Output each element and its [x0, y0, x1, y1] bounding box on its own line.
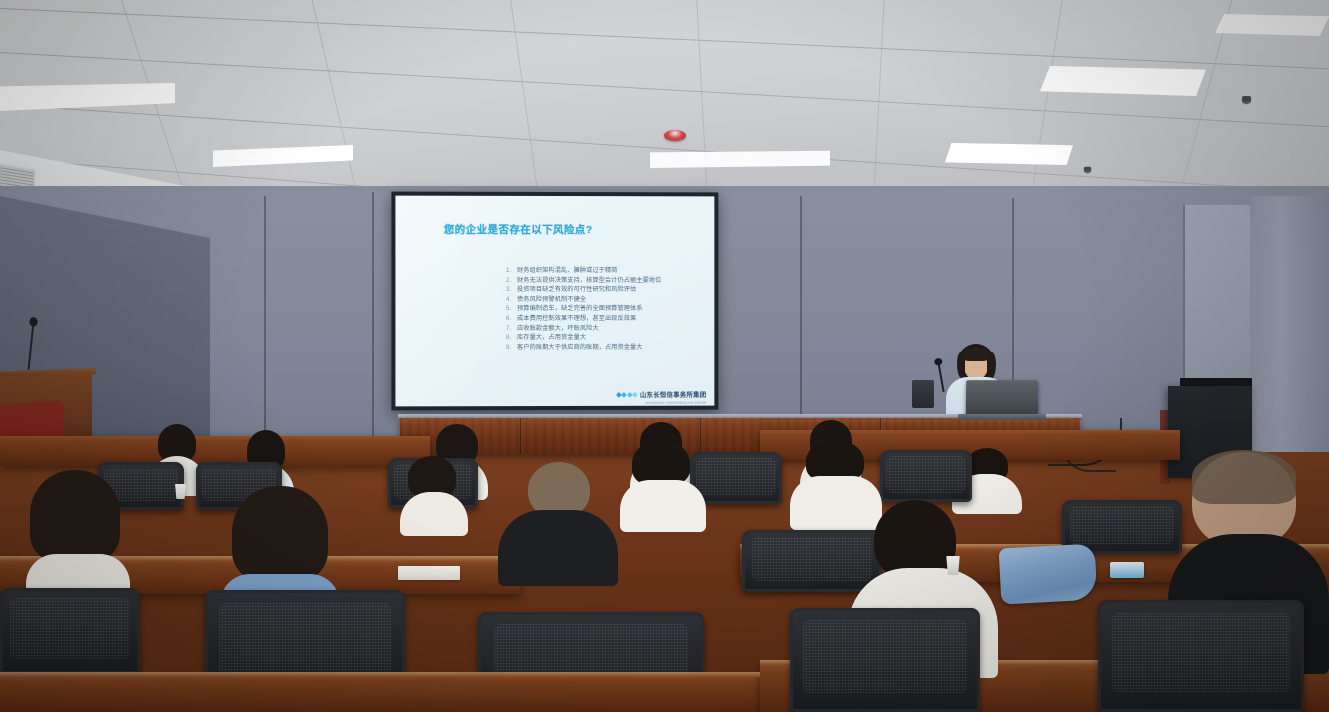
logo-chinese-name: 山东长恒信事务所集团 [640, 390, 707, 399]
presenter-hair-right [987, 352, 996, 379]
list-item: 4.债务风险预警机制不健全 [506, 295, 661, 305]
bullet-number: 2. [506, 276, 517, 286]
attendee-woman-glasses [400, 456, 468, 518]
attendee-woman-long-hair [20, 470, 130, 570]
audience-desk-row-3 [0, 676, 760, 712]
bullet-number: 1. [506, 266, 517, 276]
ceiling-light-panel [945, 143, 1073, 165]
logo-english-name: SHANDONG CHANGHENGXIN GROUP [645, 401, 706, 405]
right-wall-pillar [1250, 196, 1329, 486]
presenter-laptop-base [958, 414, 1046, 420]
bullet-text: 财务无法提供决策支持，核算型会计仍占据主要地位 [517, 277, 661, 284]
bullet-number: 3. [506, 285, 517, 295]
list-item: 7.应收账款金额大，坏账风险大 [506, 324, 661, 334]
ceiling-light-panel [213, 145, 353, 167]
ceiling-light-panel [1040, 66, 1206, 96]
bullet-text: 应收账款金额大，坏账风险大 [517, 325, 599, 332]
bullet-number: 9. [506, 343, 517, 353]
bullet-text: 财务组织架构混乱、臃肿或过于精简 [517, 267, 618, 274]
company-logo: 山东长恒信事务所集团 [616, 390, 706, 399]
bullet-number: 4. [506, 295, 517, 305]
ceiling-light-panel [1215, 14, 1329, 36]
ceiling-light-panel [650, 148, 830, 168]
slide-bullet-list: 1.财务组织架构混乱、臃肿或过于精简 2.财务无法提供决策支持，核算型会计仍占据… [506, 266, 661, 352]
bullet-text: 成本费用控制效果不理想，甚至出现反效果 [517, 315, 636, 322]
bullet-text: 客户的账期大于供应商的账期，占用资金量大 [517, 344, 643, 351]
bullet-text: 投资项目缺乏有效的可行性研究和风险评估 [517, 286, 636, 293]
desk-equipment-box [912, 380, 934, 408]
bullet-number: 8. [506, 333, 517, 343]
list-item: 6.成本费用控制效果不理想，甚至出现反效果 [506, 314, 661, 324]
door-frame [1183, 205, 1255, 385]
diamond-dots-icon [616, 392, 636, 396]
bullet-number: 7. [506, 324, 517, 334]
bullet-number: 5. [506, 304, 517, 314]
draped-blue-shirt [999, 544, 1098, 605]
attendee-man-black-polo [498, 462, 618, 572]
bullet-text: 预算编制造车，缺乏完善的全面预算管理体系 [517, 305, 643, 312]
notebook [398, 566, 460, 580]
projection-screen-frame: 您的企业是否存在以下风险点? 1.财务组织架构混乱、臃肿或过于精简 2.财务无法… [391, 192, 718, 411]
list-item: 1.财务组织架构混乱、臃肿或过于精简 [506, 266, 661, 276]
slide-title: 您的企业是否存在以下风险点? [444, 222, 593, 237]
water-bottle [318, 520, 332, 550]
projection-screen: 您的企业是否存在以下风险点? 1.财务组织架构混乱、臃肿或过于精简 2.财务无法… [395, 196, 714, 407]
bullet-number: 6. [506, 314, 517, 324]
bullet-text: 债务风险预警机制不健全 [517, 296, 586, 303]
list-item: 8.库存量大，占用资金量大 [506, 333, 661, 343]
sprinkler-head-icon [1242, 96, 1251, 103]
sprinkler-head-icon [1084, 167, 1091, 173]
office-chair [790, 608, 980, 712]
presenter-hair-left [957, 352, 965, 378]
ceiling-light-panel [0, 83, 175, 111]
smoke-alarm-icon [664, 130, 686, 141]
list-item: 3.投资项目缺乏有效的可行性研究和风险评估 [506, 285, 661, 295]
desk-lip [0, 672, 760, 677]
list-item: 9.客户的账期大于供应商的账期，占用资金量大 [506, 343, 661, 353]
conference-room-photo: 您的企业是否存在以下风险点? 1.财务组织架构混乱、臃肿或过于精简 2.财务无法… [0, 0, 1329, 712]
office-chair [0, 588, 140, 674]
office-chair [880, 450, 972, 502]
list-item: 2.财务无法提供决策支持，核算型会计仍占据主要地位 [506, 276, 661, 286]
presenter-laptop [966, 380, 1038, 418]
office-chair [1098, 600, 1304, 712]
tissue-box [1110, 562, 1144, 578]
attendee-woman-white-tee [620, 440, 706, 518]
bullet-text: 库存量大，占用资金量大 [517, 334, 586, 341]
list-item: 5.预算编制造车，缺乏完善的全面预算管理体系 [506, 304, 661, 314]
